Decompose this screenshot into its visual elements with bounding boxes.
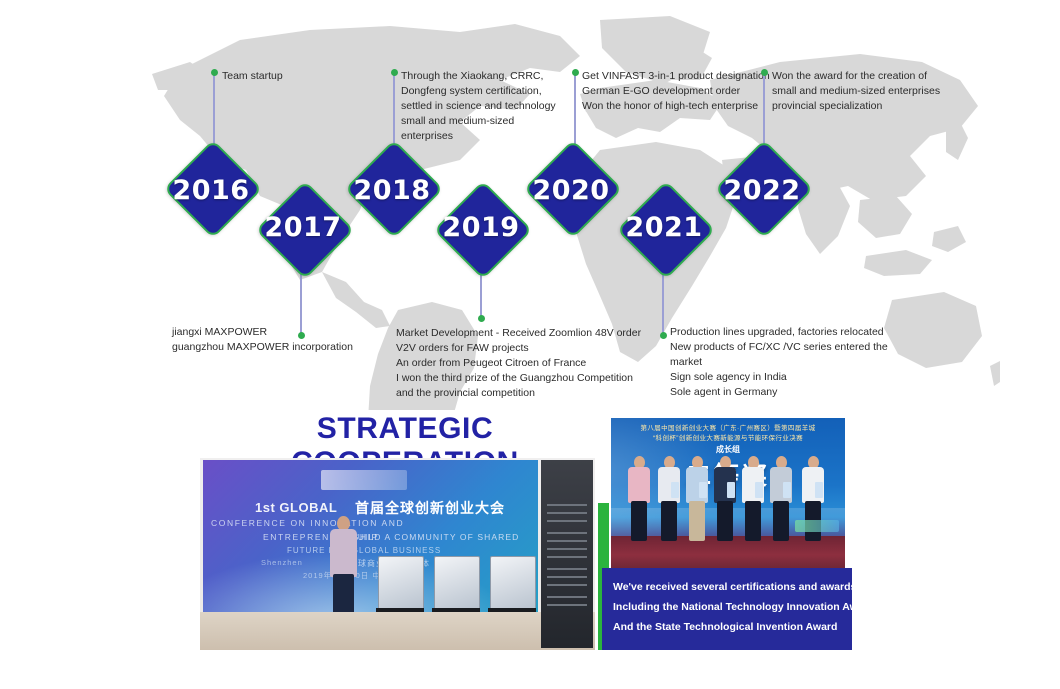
milestone-note-2017: jiangxi MAXPOWER guangzhou MAXPOWER inco… bbox=[172, 325, 402, 355]
award-ceremony-photo[interactable]: 第八届中国创新创业大赛（广东·广州赛区）暨第四届羊城 “科创杯”创新创业大赛新能… bbox=[611, 418, 845, 578]
conference-headline-cn: 首届全球创新创业大会 bbox=[355, 498, 505, 518]
conference-headline-en: 1st GLOBAL bbox=[255, 500, 337, 515]
conference-line-right-1: BUILD A COMMUNITY OF SHARED bbox=[351, 532, 519, 542]
conference-city: Shenzhen bbox=[261, 558, 303, 567]
awardee-1 bbox=[627, 456, 651, 542]
awardee-7-plaque bbox=[815, 482, 823, 498]
connector-dot-2016 bbox=[211, 69, 218, 76]
conference-photo[interactable]: 1st GLOBAL 首届全球创新创业大会 CONFERENCE ON INNO… bbox=[200, 458, 595, 650]
award-banner-line-1: 第八届中国创新创业大赛（广东·广州赛区）暨第四届羊城 bbox=[617, 422, 839, 432]
year-label-2019: 2019 bbox=[426, 214, 536, 241]
milestone-note-2021: Production lines upgraded, factories rel… bbox=[670, 325, 915, 400]
stage-character-props bbox=[378, 556, 536, 614]
milestone-note-2020: Get VINFAST 3-in-1 product designation G… bbox=[582, 69, 772, 114]
stage-char-3 bbox=[490, 556, 536, 610]
conference-line-left-1: CONFERENCE ON INNOVATION AND bbox=[211, 518, 404, 528]
awardee-5-pants bbox=[745, 501, 761, 541]
connector-dot-2021 bbox=[660, 332, 667, 339]
milestone-note-2016: Team startup bbox=[222, 69, 392, 84]
infographic-canvas: 2016 Team startup 2017 jiangxi MAXPOWER … bbox=[0, 0, 1060, 689]
awardee-3 bbox=[685, 456, 709, 542]
connector-line-2018 bbox=[393, 72, 395, 150]
timeline: 2016 Team startup 2017 jiangxi MAXPOWER … bbox=[0, 0, 1060, 410]
awardee-1-shirt bbox=[628, 467, 650, 503]
connector-line-2016 bbox=[213, 72, 215, 150]
awardee-6 bbox=[769, 456, 793, 542]
year-label-2018: 2018 bbox=[337, 177, 447, 204]
presenter-torso bbox=[330, 529, 357, 577]
milestone-note-2022: Won the award for the creation of small … bbox=[772, 69, 947, 114]
connector-dot-2022 bbox=[761, 69, 768, 76]
awardee-4-plaque bbox=[727, 482, 735, 498]
year-label-2022: 2022 bbox=[707, 177, 817, 204]
milestone-note-2018: Through the Xiaokang, CRRC, Dongfeng sys… bbox=[401, 69, 561, 144]
award-group-label: 成长组 bbox=[611, 444, 845, 455]
caption-line-3: And the State Technological Invention Aw… bbox=[613, 617, 841, 637]
connector-line-2017 bbox=[300, 266, 302, 334]
connector-dot-2018 bbox=[391, 69, 398, 76]
caption-line-2: Including the National Technology Innova… bbox=[613, 597, 841, 617]
connector-line-2021 bbox=[662, 266, 664, 334]
awardee-6-plaque bbox=[783, 482, 791, 498]
year-label-2021: 2021 bbox=[609, 214, 719, 241]
connector-dot-2019 bbox=[478, 315, 485, 322]
awardee-5 bbox=[741, 456, 765, 542]
year-label-2020: 2020 bbox=[516, 177, 626, 204]
awardee-4 bbox=[713, 456, 737, 542]
awardee-6-pants bbox=[773, 501, 789, 541]
award-banner-line-2: “科创杯”创新创业大赛新能源与节能环保行业决赛 bbox=[617, 432, 839, 442]
connector-line-2020 bbox=[574, 72, 576, 150]
caption-line-1: We've received several certifications an… bbox=[613, 577, 841, 597]
awardee-1-pants bbox=[631, 501, 647, 541]
award-caption-box: We've received several certifications an… bbox=[602, 568, 852, 650]
year-label-2017: 2017 bbox=[248, 214, 358, 241]
year-label-2016: 2016 bbox=[156, 177, 266, 204]
connector-dot-2020 bbox=[572, 69, 579, 76]
awardee-2-pants bbox=[661, 501, 677, 541]
stage-char-1 bbox=[378, 556, 424, 610]
awardee-4-pants bbox=[717, 501, 733, 541]
conference-floor bbox=[200, 612, 595, 650]
awardee-3-pants bbox=[689, 501, 705, 541]
gci-logo-icon bbox=[321, 470, 407, 490]
equipment-rack bbox=[541, 460, 593, 648]
conference-line-right-2: FUTURE FOR GLOBAL BUSINESS bbox=[287, 546, 441, 555]
conference-headline-ordinal: 1st bbox=[255, 500, 275, 515]
awardee-2 bbox=[657, 456, 681, 542]
conference-headline-word: GLOBAL bbox=[279, 500, 337, 515]
awardee-5-plaque bbox=[755, 482, 763, 498]
award-sponsor-logo-icon bbox=[795, 520, 839, 532]
milestone-note-2019: Market Development - Received Zoomlion 4… bbox=[396, 326, 646, 401]
stage-char-2 bbox=[434, 556, 480, 610]
awardee-3-plaque bbox=[699, 482, 707, 498]
awardee-2-plaque bbox=[671, 482, 679, 498]
connector-line-2022 bbox=[763, 72, 765, 150]
